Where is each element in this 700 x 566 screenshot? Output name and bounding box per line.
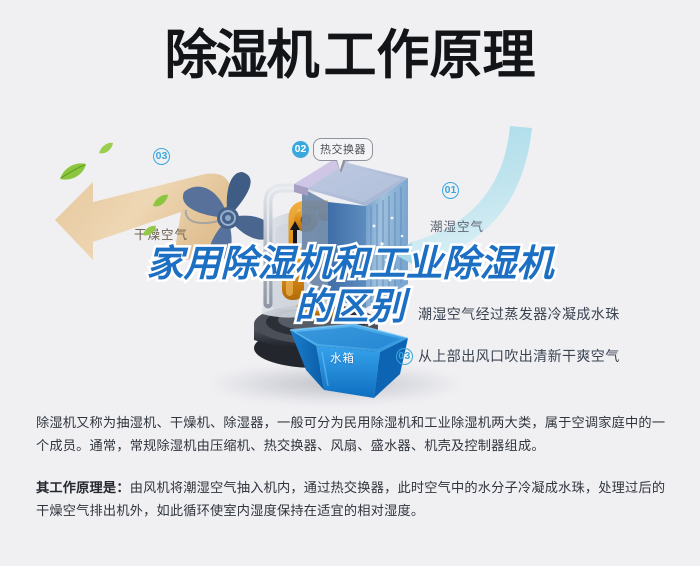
- step-1-badge: 01: [442, 180, 459, 199]
- step-2-note: 潮湿空气经过蒸发器冷凝成水珠: [418, 304, 620, 324]
- leaf-icon: [58, 162, 88, 187]
- page-title-text: 除湿机工作原理: [165, 28, 536, 84]
- step-3-note-row: 03 从上部出风口吹出清新干爽空气: [396, 346, 620, 366]
- dehumidifier-diagram: 干燥空气 03: [0, 128, 700, 400]
- heat-exchanger-callout-label: 热交换器: [313, 138, 373, 161]
- callout-heat-exchanger: 02 热交换器: [292, 138, 373, 161]
- step-3-note: 从上部出风口吹出清新干爽空气: [418, 346, 620, 366]
- page-title-part2: 工作原理: [324, 25, 536, 86]
- humid-air-label: 潮湿空气: [430, 216, 484, 235]
- infographic-page: 除湿机工作原理 干燥空气 03: [0, 0, 700, 566]
- body-paragraph-2-rest: 由风机将潮湿空气抽入机内，通过热交换器，此时空气中的水分子冷凝成水珠，处理过后的…: [36, 481, 665, 519]
- leaf-icon: [152, 194, 169, 213]
- page-title: 除湿机工作原理: [0, 28, 700, 84]
- leaf-icon: [142, 224, 157, 242]
- badge-03: 03: [153, 148, 170, 165]
- page-title-part1: 除湿机: [165, 25, 318, 86]
- callout-tail: [336, 160, 346, 173]
- article-body: 除湿机又称为抽湿机、干燥机、除湿器，一般可分为民用除湿机和工业除湿机两大类，属于…: [36, 412, 670, 542]
- water-tank-label: 水箱: [330, 350, 355, 366]
- leaf-icon: [98, 142, 114, 160]
- step-3-badge-top: 03: [153, 146, 170, 165]
- badge-02: 02: [292, 141, 309, 158]
- badge-01: 01: [442, 182, 459, 199]
- callout-text: 热交换器: [320, 143, 366, 156]
- body-paragraph-1: 除湿机又称为抽湿机、干燥机、除湿器，一般可分为民用除湿机和工业除湿机两大类，属于…: [36, 412, 670, 458]
- body-paragraph-2: 其工作原理是：由风机将潮湿空气抽入机内，通过热交换器，此时空气中的水分子冷凝成水…: [36, 477, 670, 523]
- body-paragraph-2-lead: 其工作原理是：: [36, 481, 130, 496]
- badge-03: 03: [396, 348, 413, 365]
